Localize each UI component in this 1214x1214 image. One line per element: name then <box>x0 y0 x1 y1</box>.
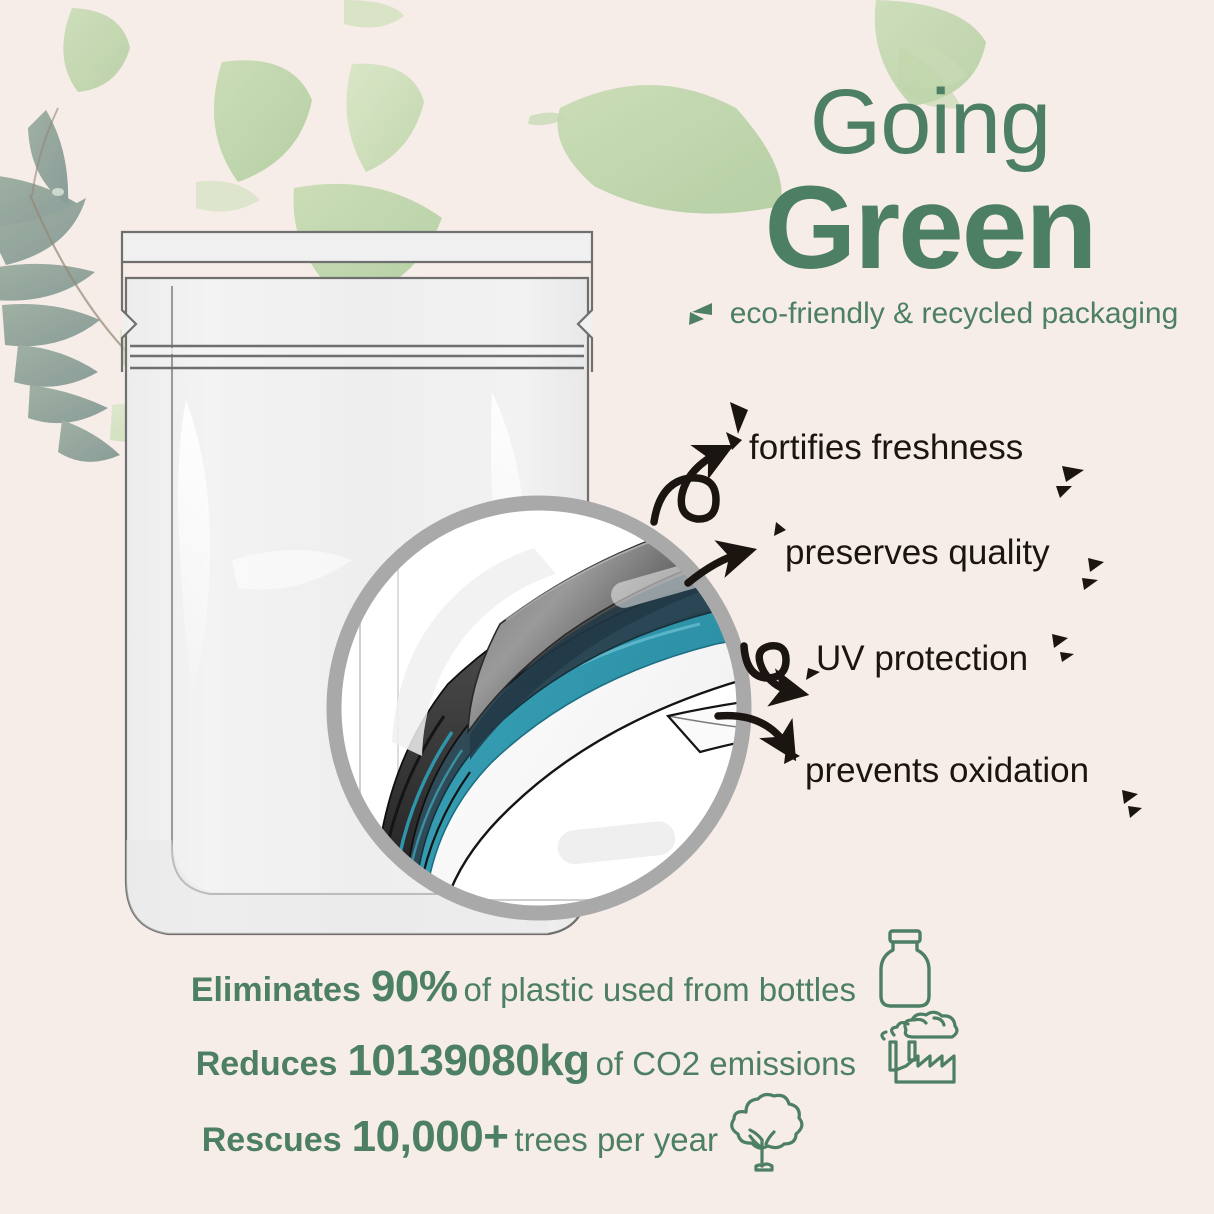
feature-label-preserves-quality: preserves quality <box>785 533 1050 573</box>
stat-row: Eliminates 90% of plastic used from bott… <box>0 962 870 1012</box>
stat-tail: of plastic used from bottles <box>463 971 856 1009</box>
arrow-fortifies-freshness <box>654 452 720 522</box>
going-green-infographic: Going Green eco-friendly & recycled pack… <box>0 0 1214 1214</box>
subtitle: eco-friendly & recycled packaging <box>730 297 1179 331</box>
page-title-line1: Going <box>660 78 1200 167</box>
stat-lead: Eliminates <box>191 971 361 1010</box>
stat-row: Reduces 10139080kg of CO2 emissions <box>0 1036 870 1086</box>
stat-value: 10,000+ <box>352 1112 509 1162</box>
stat-lead: Rescues <box>202 1121 342 1160</box>
stat-tail: of CO2 emissions <box>596 1045 856 1083</box>
arrow-preserves-quality <box>688 553 742 583</box>
tree-icon <box>716 1092 808 1178</box>
stat-tail: trees per year <box>514 1121 718 1159</box>
header: Going Green eco-friendly & recycled pack… <box>660 78 1200 331</box>
subtitle-row: eco-friendly & recycled packaging <box>660 297 1200 331</box>
feature-label-uv-protection: UV protection <box>816 639 1028 679</box>
arrow-prevents-oxidation <box>718 716 788 748</box>
feature-label-prevents-oxidation: prevents oxidation <box>805 751 1089 791</box>
leaf-sparkle-icon <box>682 300 716 328</box>
factory-emissions-icon <box>876 1008 962 1088</box>
page-title-line2: Green <box>660 169 1200 287</box>
stat-value: 10139080kg <box>347 1036 589 1086</box>
feature-label-fortifies-freshness: fortifies freshness <box>749 428 1023 468</box>
stat-lead: Reduces <box>196 1045 338 1084</box>
arrow-uv-protection <box>744 646 794 692</box>
bottle-icon <box>872 928 938 1012</box>
stat-value: 90% <box>371 962 458 1012</box>
